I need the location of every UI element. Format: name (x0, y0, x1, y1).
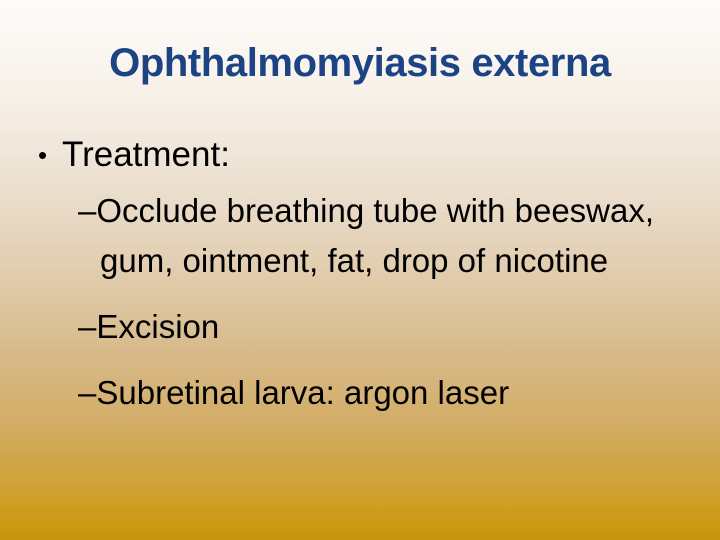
sub-bullet-text: Occlude breathing tube with beeswax, gum… (96, 192, 654, 279)
dash-marker-icon: – (78, 192, 96, 229)
sub-bullet-item-excision: –Excision (0, 302, 720, 352)
slide-title: Ophthalmomyiasis externa (0, 40, 720, 86)
bullet-text: Treatment: (62, 135, 230, 174)
sub-bullet-item-subretinal-larva: –Subretinal larva: argon laser (0, 368, 720, 418)
sub-bullet-text: Excision (96, 308, 219, 345)
bullet-item-treatment: • Treatment: (0, 132, 720, 178)
bullet-dot-icon: • (38, 132, 47, 178)
presentation-slide: Ophthalmomyiasis externa • Treatment: –O… (0, 0, 720, 540)
sub-bullet-item-occlude: –Occlude breathing tube with beeswax, gu… (0, 186, 720, 286)
dash-marker-icon: – (78, 308, 96, 345)
sub-bullet-text: Subretinal larva: argon laser (96, 374, 509, 411)
dash-marker-icon: – (78, 374, 96, 411)
slide-body: • Treatment: –Occlude breathing tube wit… (0, 132, 720, 418)
